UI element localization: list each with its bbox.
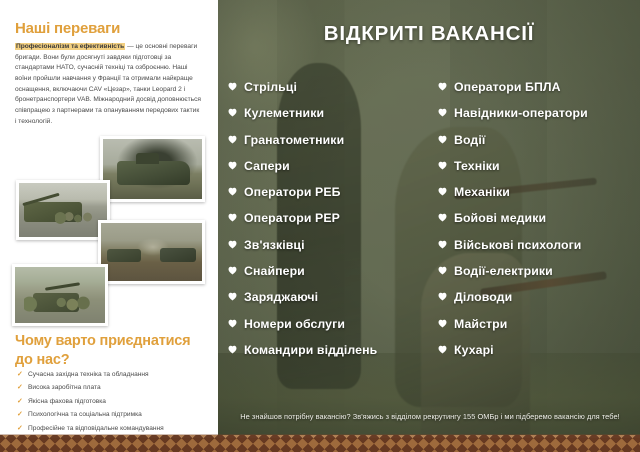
vacancies-columns: СтрільціКулеметникиГранатометникиСапериО… — [228, 80, 640, 369]
vacancy-item[interactable]: Майстри — [438, 317, 640, 343]
shield-bullet-icon — [438, 240, 447, 249]
vacancy-item-label: Механіки — [454, 185, 510, 199]
apc-photo — [100, 136, 205, 202]
shield-bullet-icon — [228, 161, 237, 170]
left-info-panel: Наші переваги Професіоналізм та ефективн… — [0, 0, 218, 436]
vacancy-item-label: Сапери — [244, 159, 290, 173]
artillery-crew-figures — [55, 206, 98, 230]
join-benefit-label: Сучасна західна техніка та обладнання — [28, 371, 149, 378]
apc-hull — [117, 161, 191, 185]
check-icon: ✓ — [17, 369, 23, 378]
check-icon: ✓ — [17, 409, 23, 418]
vacancy-item[interactable]: Оператори БПЛА — [438, 80, 640, 106]
artillery-crew-photo — [16, 180, 110, 240]
shield-bullet-icon — [438, 319, 447, 328]
vacancy-item[interactable]: Оператори РЕР — [228, 211, 430, 237]
vacancy-item[interactable]: Снайпери — [228, 264, 430, 290]
vacancies-column-left: СтрільціКулеметникиГранатометникиСапериО… — [228, 80, 430, 369]
photo-collage — [0, 128, 218, 328]
vacancy-item[interactable]: Гранатометники — [228, 133, 430, 159]
advantages-highlight: Професіоналізм та ефективність — [15, 43, 125, 50]
vacancies-title: ВІДКРИТІ ВАКАНСІЇ — [218, 22, 640, 46]
vacancy-item[interactable]: Діловоди — [438, 290, 640, 316]
vacancy-item[interactable]: Навідники-оператори — [438, 106, 640, 132]
howitzer-crew-photo-image — [15, 267, 105, 323]
shield-bullet-icon — [228, 345, 237, 354]
shield-bullet-icon — [228, 108, 237, 117]
vacancy-item[interactable]: Техніки — [438, 159, 640, 185]
join-title: Чому варто приєднатися до нас? — [15, 332, 205, 369]
vacancy-item-label: Бойові медики — [454, 211, 546, 225]
vacancy-item-label: Оператори РЕБ — [244, 185, 341, 199]
join-benefit-item: ✓Висока заробітна плата — [17, 382, 212, 395]
vacancy-item-label: Навідники-оператори — [454, 106, 588, 120]
howitzer-crew-figures — [24, 290, 93, 317]
artillery-crew-photo-image — [19, 183, 107, 237]
vacancy-item-label: Військові психологи — [454, 238, 581, 252]
shield-bullet-icon — [438, 161, 447, 170]
shield-bullet-icon — [438, 266, 447, 275]
shield-bullet-icon — [438, 213, 447, 222]
vacancy-item[interactable]: Стрільці — [228, 80, 430, 106]
vacancy-item[interactable]: Командири відділень — [228, 343, 430, 369]
vacancy-item-label: Гранатометники — [244, 133, 344, 147]
howitzer-crew-photo — [12, 264, 108, 326]
vacancy-item-label: Майстри — [454, 317, 507, 331]
vacancy-item[interactable]: Сапери — [228, 159, 430, 185]
vacancy-item[interactable]: Військові психологи — [438, 238, 640, 264]
vacancy-item-label: Зв'язківці — [244, 238, 305, 252]
vacancy-item-label: Оператори РЕР — [244, 211, 340, 225]
join-benefits-list: ✓Сучасна західна техніка та обладнання✓В… — [17, 369, 212, 436]
vacancy-item-label: Діловоди — [454, 290, 512, 304]
shield-bullet-icon — [228, 319, 237, 328]
vacancy-item-label: Кулеметники — [244, 106, 324, 120]
vacancy-item[interactable]: Заряджаючі — [228, 290, 430, 316]
embroidery-border-band — [0, 435, 640, 452]
vacancy-item[interactable]: Механіки — [438, 185, 640, 211]
shield-bullet-icon — [228, 266, 237, 275]
shield-bullet-icon — [228, 213, 237, 222]
join-benefit-item: ✓Сучасна західна техніка та обладнання — [17, 369, 212, 382]
check-icon: ✓ — [17, 396, 23, 405]
shield-bullet-icon — [438, 187, 447, 196]
vacancy-item-label: Стрільці — [244, 80, 297, 94]
shield-bullet-icon — [228, 240, 237, 249]
vacancy-item-label: Техніки — [454, 159, 500, 173]
vacancy-item[interactable]: Номери обслуги — [228, 317, 430, 343]
tanks-firing-photo-image — [101, 223, 202, 281]
join-benefit-label: Якісна фахова підготовка — [28, 398, 106, 405]
vacancy-item-label: Водії-електрики — [454, 264, 553, 278]
vacancy-item[interactable]: Оператори РЕБ — [228, 185, 430, 211]
vacancy-item[interactable]: Водії — [438, 133, 640, 159]
join-benefit-label: Психологічна та соціальна підтримка — [28, 411, 142, 418]
vacancy-item-label: Командири відділень — [244, 343, 377, 357]
shield-bullet-icon — [438, 292, 447, 301]
tank-right — [160, 248, 196, 262]
advantages-paragraph: Професіоналізм та ефективність — це осно… — [15, 42, 202, 127]
footer-note: Не знайшов потрібну вакансію? Зв'яжись з… — [224, 412, 636, 421]
vacancy-item-label: Снайпери — [244, 264, 305, 278]
join-benefit-label: Висока заробітна плата — [28, 384, 101, 391]
vacancy-item-label: Водії — [454, 133, 485, 147]
poster-root: ВІДКРИТІ ВАКАНСІЇ СтрільціКулеметникиГра… — [0, 0, 640, 452]
advantages-body-text: — це основні переваги бригади. Вони були… — [15, 43, 201, 125]
apc-turret — [136, 153, 159, 164]
shield-bullet-icon — [438, 135, 447, 144]
tanks-firing-photo — [98, 220, 205, 284]
vacancy-item[interactable]: Кулеметники — [228, 106, 430, 132]
shield-bullet-icon — [228, 82, 237, 91]
shield-bullet-icon — [228, 135, 237, 144]
shield-bullet-icon — [438, 82, 447, 91]
shield-bullet-icon — [228, 292, 237, 301]
vacancy-item[interactable]: Кухарі — [438, 343, 640, 369]
vacancy-item[interactable]: Бойові медики — [438, 211, 640, 237]
apc-photo-image — [103, 139, 202, 199]
shield-bullet-icon — [228, 187, 237, 196]
join-benefit-label: Професійне та відповідальне командування — [28, 425, 164, 432]
vacancy-item[interactable]: Зв'язківці — [228, 238, 430, 264]
vacancy-item-label: Номери обслуги — [244, 317, 345, 331]
shield-bullet-icon — [438, 108, 447, 117]
vacancies-column-right: Оператори БПЛАНавідники-операториВодіїТе… — [430, 80, 640, 369]
shield-bullet-icon — [438, 345, 447, 354]
vacancy-item[interactable]: Водії-електрики — [438, 264, 640, 290]
join-benefit-item: ✓Якісна фахова підготовка — [17, 396, 212, 409]
vacancy-item-label: Оператори БПЛА — [454, 80, 561, 94]
advantages-title: Наші переваги — [15, 20, 120, 37]
vacancy-item-label: Кухарі — [454, 343, 494, 357]
vacancy-item-label: Заряджаючі — [244, 290, 318, 304]
tank-left — [107, 249, 141, 262]
check-icon: ✓ — [17, 423, 23, 432]
join-benefit-item: ✓Психологічна та соціальна підтримка — [17, 409, 212, 422]
check-icon: ✓ — [17, 382, 23, 391]
